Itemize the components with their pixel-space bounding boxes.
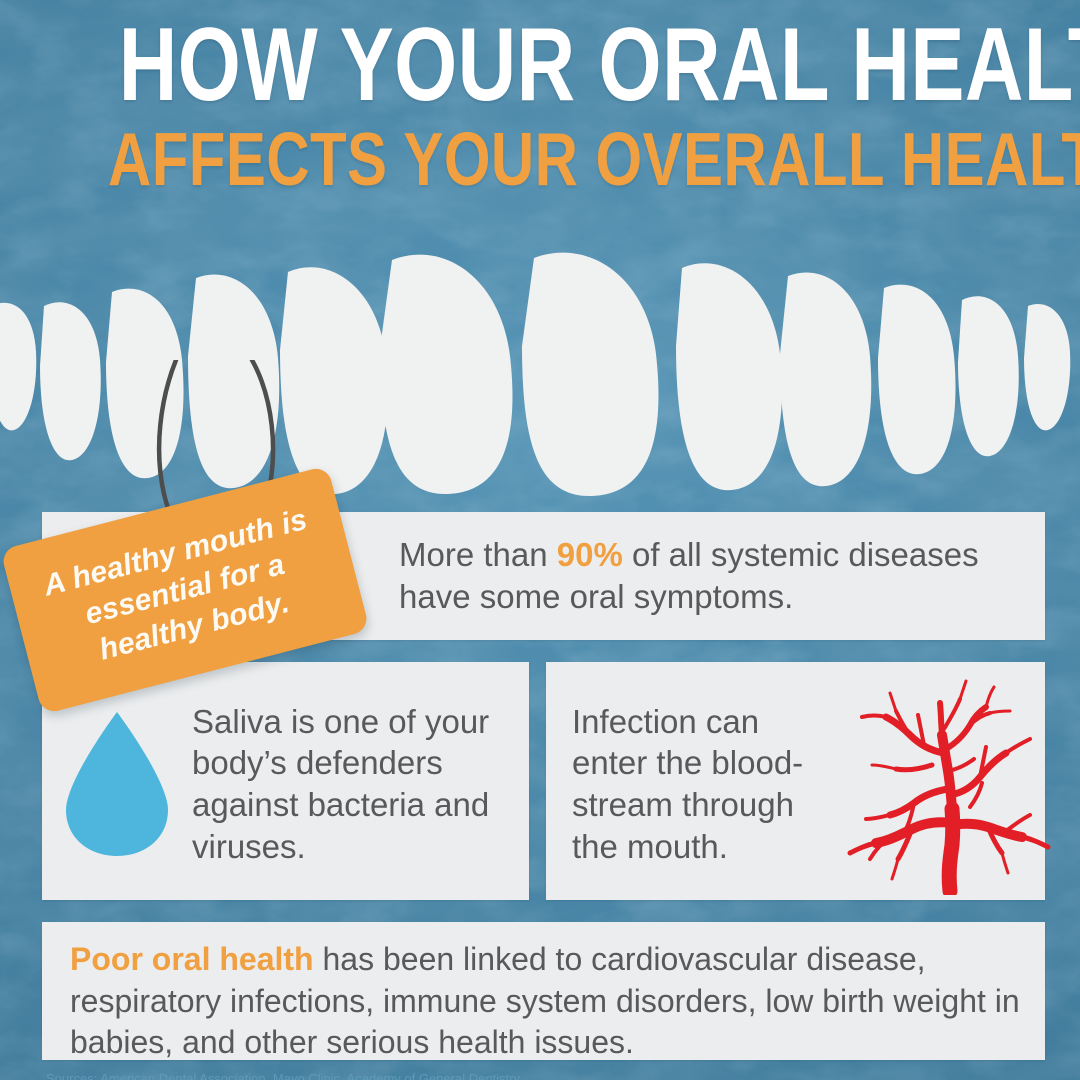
tooth <box>676 263 782 490</box>
stat-highlight: 90% <box>557 536 623 573</box>
water-drop-icon <box>60 708 174 860</box>
page-subtitle: AFFECTS YOUR OVERALL HEALTH <box>108 122 972 197</box>
blood-vessel-icon <box>846 673 1051 895</box>
stat-text: More than 90% of all systemic diseases h… <box>399 534 1039 617</box>
poor-highlight: Poor oral health <box>70 941 314 977</box>
tooth <box>0 303 36 431</box>
tooth <box>1024 304 1070 430</box>
panel-poor-oral-health: Poor oral health has been linked to card… <box>42 922 1045 1060</box>
source-line: Sources: American Dental Association, Ma… <box>46 1071 666 1080</box>
saliva-row: Saliva is one of your body’s defenders a… <box>60 680 517 888</box>
tooth <box>380 255 512 494</box>
stat-prefix: More than <box>399 536 557 573</box>
tooth <box>878 285 956 475</box>
panel-saliva: Saliva is one of your body’s defenders a… <box>42 662 529 900</box>
page-title: HOW YOUR ORAL HEALTH <box>119 16 961 116</box>
poor-text: Poor oral health has been linked to card… <box>70 939 1025 1064</box>
infographic-poster: HOW YOUR ORAL HEALTH AFFECTS YOUR OVERAL… <box>0 0 1080 1080</box>
tooth <box>522 253 658 496</box>
infection-row: Infection can enter the blood-stream thr… <box>572 676 1037 892</box>
title-block: HOW YOUR ORAL HEALTH AFFECTS YOUR OVERAL… <box>0 16 1080 197</box>
tooth <box>958 296 1019 456</box>
saliva-text: Saliva is one of your body’s defenders a… <box>192 701 517 867</box>
infection-text: Infection can enter the blood-stream thr… <box>572 701 842 867</box>
tooth <box>780 272 871 486</box>
tooth <box>40 302 101 460</box>
panel-infection: Infection can enter the blood-stream thr… <box>546 662 1045 900</box>
